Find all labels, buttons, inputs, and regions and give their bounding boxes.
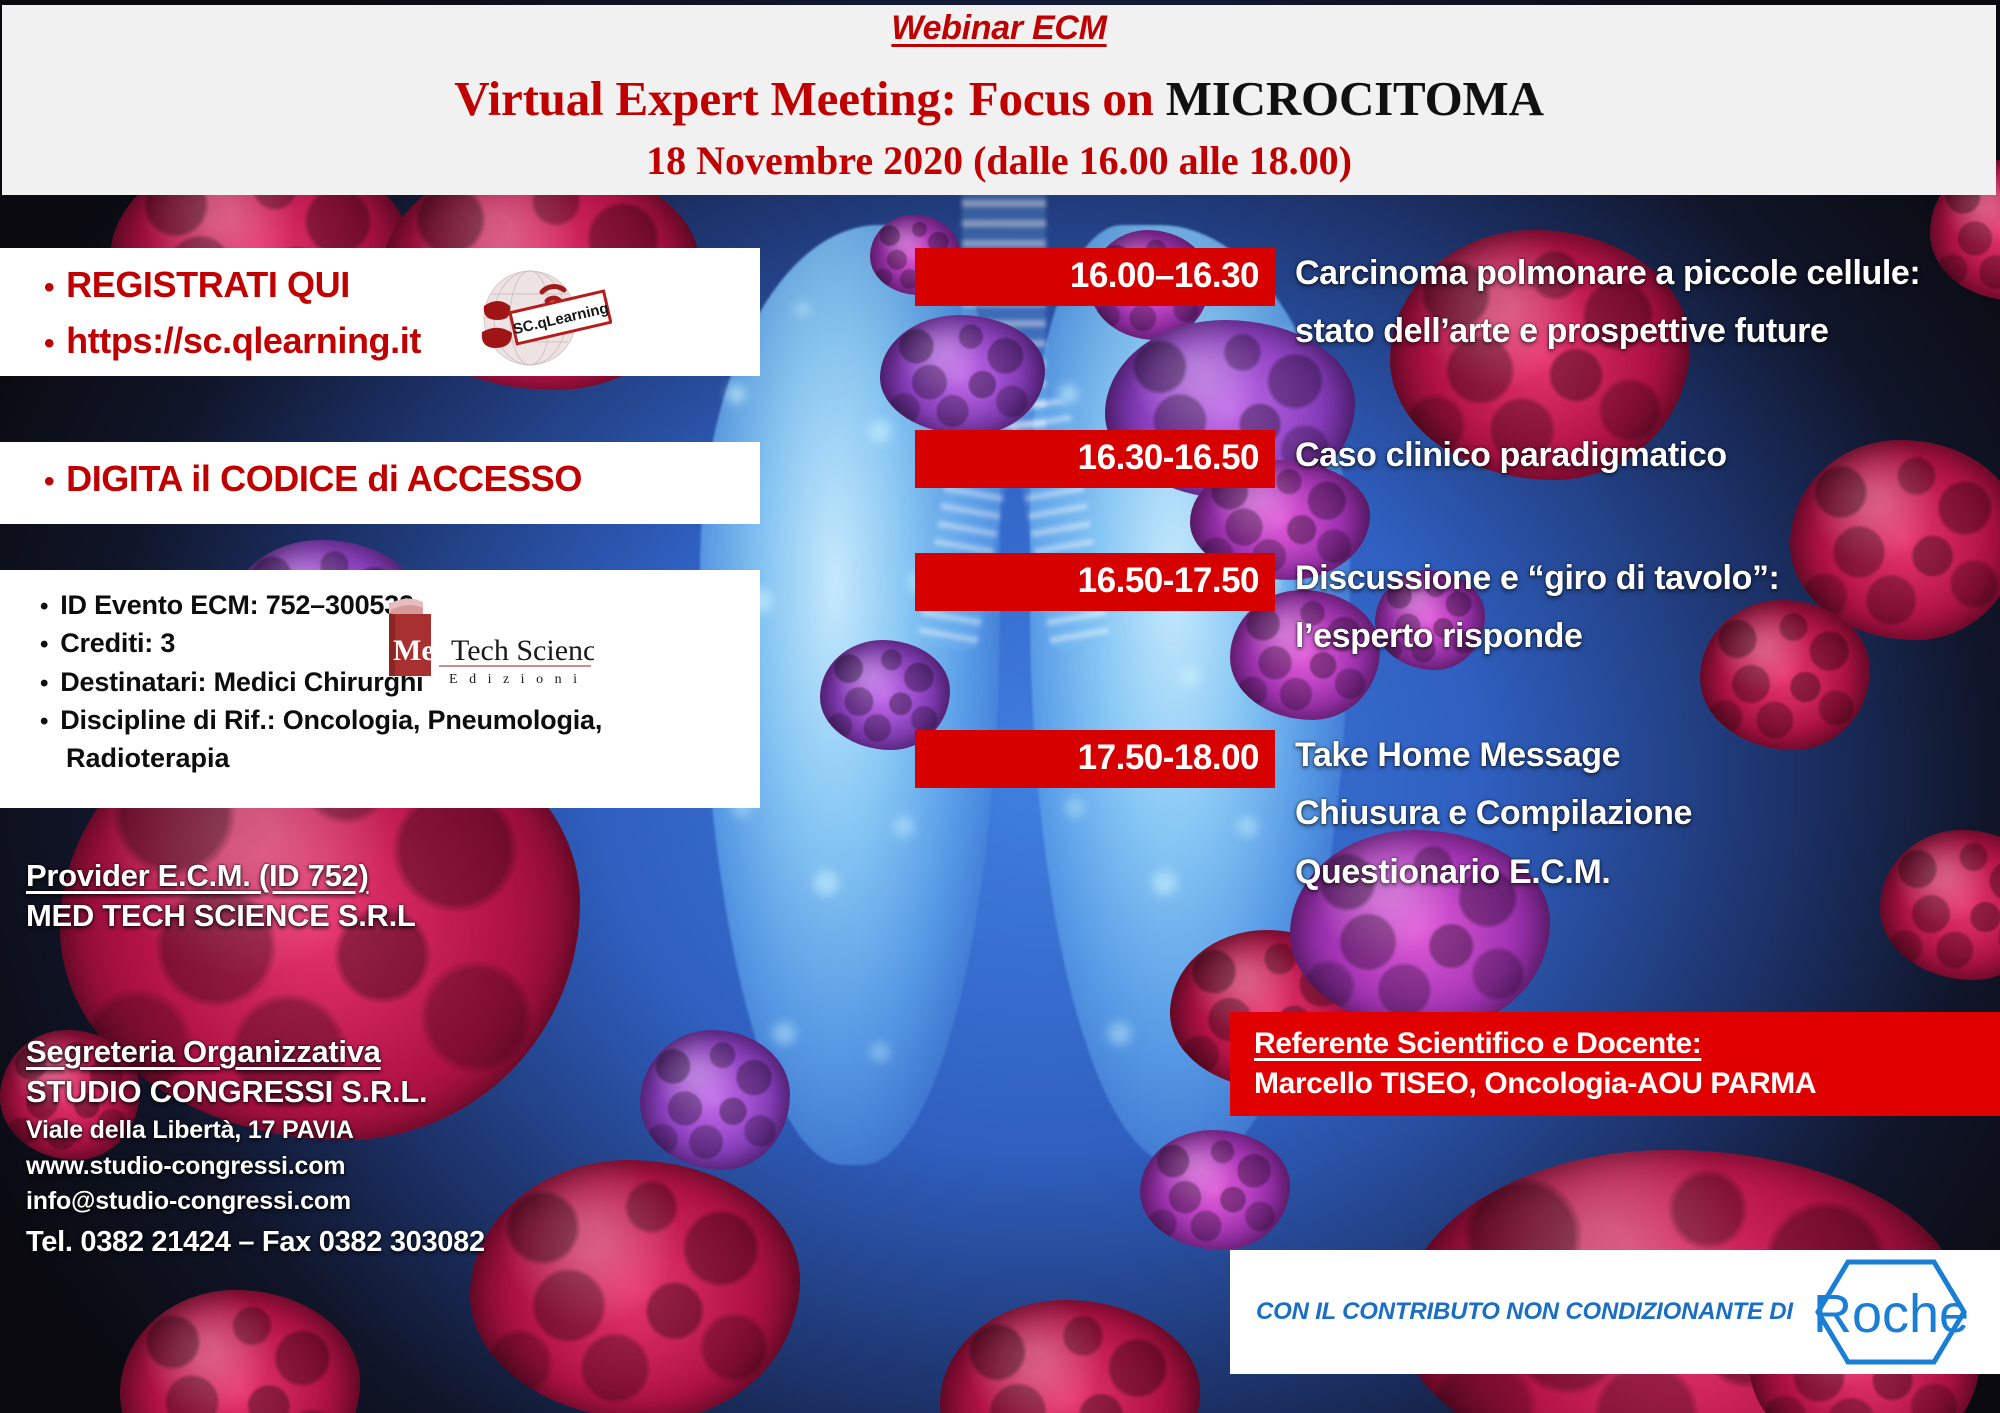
bullet-dot-icon: • [40, 628, 48, 662]
sponsor-bar: CON IL CONTRIBUTO NON CONDIZIONANTE DI R… [1230, 1250, 2000, 1374]
register-url[interactable]: https://sc.qlearning.it [66, 320, 421, 362]
register-label: REGISTRATI QUI [66, 264, 350, 306]
agenda-topic-line: Chiusura e Compilazione [1295, 784, 1995, 842]
bullet-dot-icon: • [40, 667, 48, 701]
access-code-panel: • DIGITA il CODICE di ACCESSO [0, 442, 760, 524]
secretariat-phone: Tel. 0382 21424 – Fax 0382 303082 [26, 1222, 485, 1263]
provider-label: Provider E.C.M. (ID 752) [26, 856, 416, 896]
agenda-time-chip: 17.50-18.00 [915, 730, 1275, 788]
access-code-line: • DIGITA il CODICE di ACCESSO [0, 442, 760, 500]
header-subtitle: 18 Novembre 2020 (dalle 16.00 alle 18.00… [2, 137, 1996, 184]
agenda-topic-line: Discussione e “giro di tavolo”: [1295, 549, 1995, 607]
secretariat-email[interactable]: info@studio-congressi.com [26, 1184, 485, 1220]
header-kicker: Webinar ECM [2, 9, 1996, 48]
sponsor-contribution-text: CON IL CONTRIBUTO NON CONDIZIONANTE DI [1256, 1298, 1793, 1326]
secretariat-block: Segreteria Organizzativa STUDIO CONGRESS… [26, 1032, 485, 1262]
bullet-dot-icon: • [44, 329, 54, 359]
agenda-topic: Take Home Message Chiusura e Compilazion… [1295, 726, 1995, 901]
secretariat-label: Segreteria Organizzativa [26, 1032, 485, 1072]
ecm-disciplines-continued: Radioterapia [66, 739, 760, 777]
agenda-topic: Discussione e “giro di tavolo”: l’espert… [1295, 549, 1995, 666]
svg-text:Roche: Roche [1813, 1284, 1969, 1344]
registration-panel: • REGISTRATI QUI • https://sc.qlearning.… [0, 248, 760, 376]
agenda-time-chip: 16.30-16.50 [915, 430, 1275, 488]
svg-text:Med: Med [393, 634, 452, 667]
bullet-dot-icon: • [40, 590, 48, 624]
agenda-time-chip: 16.50-17.50 [915, 553, 1275, 611]
provider-block: Provider E.C.M. (ID 752) MED TECH SCIENC… [26, 856, 416, 937]
svg-text:E d i z i o n i: E d i z i o n i [449, 672, 581, 687]
ecm-disciplines: Discipline di Rif.: Oncologia, Pneumolog… [60, 701, 602, 739]
ecm-event-id: ID Evento ECM: 752–300532 [60, 586, 414, 624]
roche-logo: Roche [1776, 1254, 1976, 1370]
tumor-cell [640, 1030, 790, 1170]
med-tech-science-logo: Med Tech Science E d i z i o n i [379, 588, 594, 688]
agenda-topic: Caso clinico paradigmatico [1295, 426, 1995, 484]
agenda-topic: Carcinoma polmonare a piccole cellule: s… [1295, 244, 1995, 361]
referent-label: Referente Scientifico e Docente: [1254, 1024, 2000, 1064]
ecm-info-panel: • ID Evento ECM: 752–300532 • Crediti: 3… [0, 570, 760, 808]
svg-text:Tech Science: Tech Science [451, 634, 594, 667]
agenda-schedule: 16.00–16.30 Carcinoma polmonare a piccol… [915, 0, 2000, 1413]
secretariat-name: STUDIO CONGRESSI S.R.L. [26, 1072, 485, 1113]
list-item: • Discipline di Rif.: Oncologia, Pneumol… [40, 701, 760, 739]
secretariat-website[interactable]: www.studio-congressi.com [26, 1149, 485, 1185]
bullet-dot-icon: • [44, 273, 54, 303]
ecm-credits: Crediti: 3 [60, 624, 175, 662]
tumor-cell [470, 1160, 800, 1413]
agenda-topic-line: Caso clinico paradigmatico [1295, 426, 1995, 484]
title-black-part: MICROCITOMA [1166, 71, 1544, 126]
register-line-1: • REGISTRATI QUI [0, 248, 760, 306]
secretariat-address: Viale della Libertà, 17 PAVIA [26, 1113, 485, 1149]
agenda-topic-line: stato dell’arte e prospettive future [1295, 302, 1995, 360]
agenda-topic-line: Carcinoma polmonare a piccole cellule: [1295, 244, 1995, 302]
agenda-topic-line: Take Home Message [1295, 726, 1995, 784]
agenda-topic-line: l’esperto risponde [1295, 607, 1995, 665]
access-code-label: DIGITA il CODICE di ACCESSO [66, 458, 582, 500]
ecm-audience: Destinatari: Medici Chirurghi [60, 663, 423, 701]
scientific-referent-box: Referente Scientifico e Docente: Marcell… [1230, 1012, 2000, 1116]
sc-qlearning-logo: SC.qLearning [462, 258, 612, 368]
agenda-topic-line: Questionario E.C.M. [1295, 843, 1995, 901]
referent-person: Marcello TISEO, Oncologia-AOU PARMA [1254, 1064, 2000, 1104]
page-title: Virtual Expert Meeting: Focus on MICROCI… [2, 70, 1996, 127]
bullet-dot-icon: • [44, 467, 54, 497]
agenda-time-chip: 16.00–16.30 [915, 248, 1275, 306]
provider-name: MED TECH SCIENCE S.R.L [26, 896, 416, 937]
webinar-poster: Webinar ECM Virtual Expert Meeting: Focu… [0, 0, 2000, 1413]
register-line-2[interactable]: • https://sc.qlearning.it [0, 320, 760, 362]
bullet-dot-icon: • [40, 705, 48, 739]
poster-header: Webinar ECM Virtual Expert Meeting: Focu… [2, 5, 1996, 195]
title-red-part: Virtual Expert Meeting: Focus on [454, 71, 1166, 126]
